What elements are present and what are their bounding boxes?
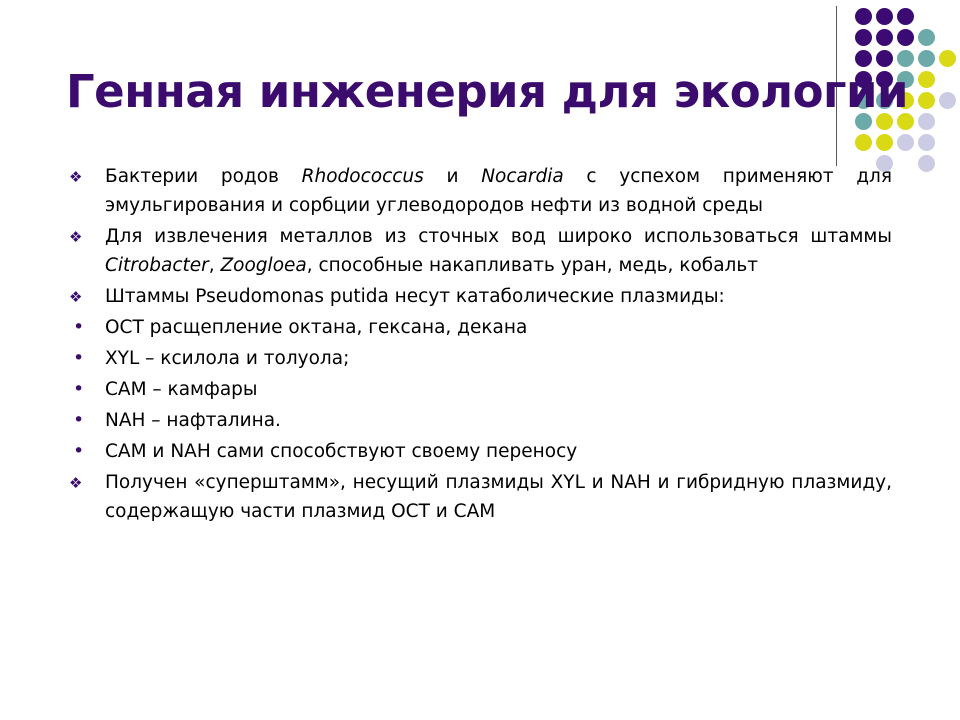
decorative-dot <box>876 29 893 46</box>
slide-canvas: Генная инженерия для экологии ❖Бактерии … <box>0 0 960 720</box>
list-item: ❖Бактерии родов Rhodococcus и Nocardia с… <box>62 162 892 220</box>
bullet-list: ❖Бактерии родов Rhodococcus и Nocardia с… <box>62 162 892 528</box>
list-item: ❖Получен «суперштамм», несущий плазмиды … <box>62 468 892 526</box>
decorative-dot <box>918 50 935 67</box>
text-run: CAM – камфары <box>105 379 258 400</box>
species-name: Rhodococcus <box>302 166 424 187</box>
decorative-dot <box>897 29 914 46</box>
page-title: Генная инженерия для экологии <box>66 66 926 118</box>
list-item: •CAM и NAH сами способствуют своему пере… <box>62 437 892 466</box>
round-bullet-icon: • <box>73 313 99 342</box>
round-bullet-icon: • <box>73 375 99 404</box>
list-item-text: Штаммы Pseudomonas putida несут катаболи… <box>105 282 892 311</box>
species-name: Zoogloea <box>221 255 307 276</box>
text-run: , способные накапливать уран, медь, коба… <box>307 255 758 276</box>
diamond-bullet-icon: ❖ <box>69 223 95 252</box>
decorative-dot <box>939 92 956 109</box>
list-item-text: XYL – ксилола и толуола; <box>105 344 892 373</box>
list-item: •OCT расщепление октана, гексана, декана <box>62 313 892 342</box>
decorative-dot <box>876 8 893 25</box>
list-item-text: CAM – камфары <box>105 375 892 404</box>
list-item: ❖ Для извлечения металлов из сточных вод… <box>62 222 892 280</box>
species-name: Citrobacter <box>105 255 209 276</box>
decorative-dot <box>855 29 872 46</box>
text-run: CAM и NAH сами способствуют своему перен… <box>105 441 577 462</box>
list-item-text: Для извлечения металлов из сточных вод ш… <box>105 222 892 280</box>
text-run: XYL – ксилола и толуола; <box>105 348 349 369</box>
decorative-dot <box>855 134 872 151</box>
decorative-dot <box>918 134 935 151</box>
text-run: NAH – нафталина. <box>105 410 281 431</box>
decorative-dot <box>897 134 914 151</box>
text-run: Бактерии родов <box>105 166 302 187</box>
text-run: Штаммы Pseudomonas putida несут катаболи… <box>105 286 725 307</box>
list-item-text: NAH – нафталина. <box>105 406 892 435</box>
list-item-text: Бактерии родов Rhodococcus и Nocardia с … <box>105 162 892 220</box>
decorative-dot <box>897 8 914 25</box>
list-item: • XYL – ксилола и толуола; <box>62 344 892 373</box>
list-item: ❖Штаммы Pseudomonas putida несут катабол… <box>62 282 892 311</box>
list-item: •NAH – нафталина. <box>62 406 892 435</box>
diamond-bullet-icon: ❖ <box>69 469 95 498</box>
list-item-text: Получен «суперштамм», несущий плазмиды X… <box>105 468 892 526</box>
decorative-dot <box>855 8 872 25</box>
list-item-text: OCT расщепление октана, гексана, декана <box>105 313 892 342</box>
text-run: Для извлечения металлов из сточных вод ш… <box>105 226 892 247</box>
decorative-dot <box>918 29 935 46</box>
decorative-dot <box>876 134 893 151</box>
decorative-dot <box>918 155 935 172</box>
round-bullet-icon: • <box>73 437 99 466</box>
text-run: и <box>424 166 481 187</box>
decorative-dot <box>939 50 956 67</box>
text-run: Получен «суперштамм», несущий плазмиды X… <box>105 472 892 522</box>
diamond-bullet-icon: ❖ <box>69 163 95 192</box>
round-bullet-icon: • <box>73 406 99 435</box>
list-item-text: CAM и NAH сами способствуют своему перен… <box>105 437 892 466</box>
text-run: OCT расщепление октана, гексана, декана <box>105 317 527 338</box>
diamond-bullet-icon: ❖ <box>69 283 95 312</box>
text-run: , <box>209 255 221 276</box>
species-name: Nocardia <box>481 166 564 187</box>
list-item: •CAM – камфары <box>62 375 892 404</box>
round-bullet-icon: • <box>73 344 99 373</box>
